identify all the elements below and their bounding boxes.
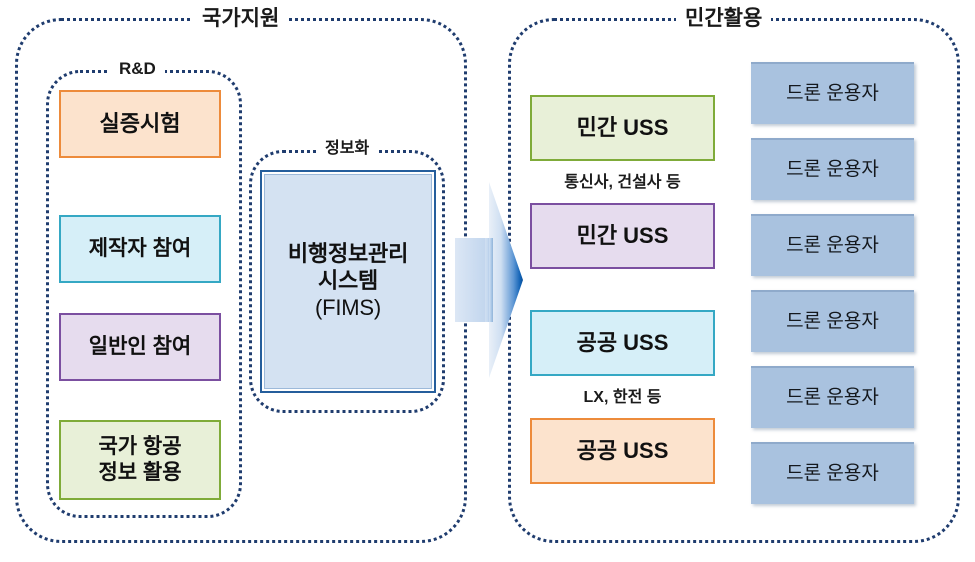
fims-line-3: (FIMS) bbox=[315, 295, 381, 322]
diagram-canvas: 국가지원 R&D 실증시험 제작자 참여 일반인 참여 국가 항공 정보 활용 … bbox=[0, 0, 975, 562]
node-label: 드론 운용자 bbox=[786, 234, 879, 257]
node-label: 민간 USS bbox=[577, 223, 669, 250]
node-public-uss-2[interactable]: 공공 USS bbox=[530, 418, 715, 484]
node-public-participation[interactable]: 일반인 참여 bbox=[59, 313, 221, 381]
node-demonstration-test[interactable]: 실증시험 bbox=[59, 90, 221, 158]
node-drone-operator-2[interactable]: 드론 운용자 bbox=[751, 138, 914, 200]
node-label: 드론 운용자 bbox=[786, 158, 879, 181]
node-manufacturer-participation[interactable]: 제작자 참여 bbox=[59, 215, 221, 283]
node-label: 드론 운용자 bbox=[786, 386, 879, 409]
group-national-support-title: 국가지원 bbox=[193, 8, 288, 29]
node-label: 드론 운용자 bbox=[786, 82, 879, 105]
caption-public-uss: LX, 한전 등 bbox=[530, 383, 715, 407]
fims-line-2: 시스템 bbox=[318, 268, 378, 295]
group-rnd-title: R&D bbox=[110, 60, 165, 77]
node-private-uss-1[interactable]: 민간 USS bbox=[530, 95, 715, 161]
group-informatization-title: 정보화 bbox=[316, 141, 378, 157]
node-label: 실증시험 bbox=[100, 111, 181, 138]
node-fims-system[interactable]: 비행정보관리 시스템 (FIMS) bbox=[260, 170, 436, 393]
node-drone-operator-4[interactable]: 드론 운용자 bbox=[751, 290, 914, 352]
node-drone-operator-6[interactable]: 드론 운용자 bbox=[751, 442, 914, 504]
node-label: 드론 운용자 bbox=[786, 310, 879, 333]
node-drone-operator-3[interactable]: 드론 운용자 bbox=[751, 214, 914, 276]
fims-line-1: 비행정보관리 bbox=[288, 241, 408, 268]
node-private-uss-2[interactable]: 민간 USS bbox=[530, 203, 715, 269]
node-label: 공공 USS bbox=[577, 438, 669, 465]
node-drone-operator-1[interactable]: 드론 운용자 bbox=[751, 62, 914, 124]
node-public-uss-1[interactable]: 공공 USS bbox=[530, 310, 715, 376]
group-private-utilization-title: 민간활용 bbox=[676, 8, 771, 29]
node-label: 국가 항공 정보 활용 bbox=[98, 434, 181, 485]
node-label: 드론 운용자 bbox=[786, 462, 879, 485]
node-label: 제작자 참여 bbox=[89, 236, 191, 262]
caption-private-uss: 통신사, 건설사 등 bbox=[530, 168, 715, 192]
node-national-aviation-info[interactable]: 국가 항공 정보 활용 bbox=[59, 420, 221, 500]
node-label: 일반인 참여 bbox=[89, 334, 191, 360]
node-label: 공공 USS bbox=[577, 330, 669, 357]
node-label: 민간 USS bbox=[577, 115, 669, 142]
node-drone-operator-5[interactable]: 드론 운용자 bbox=[751, 366, 914, 428]
